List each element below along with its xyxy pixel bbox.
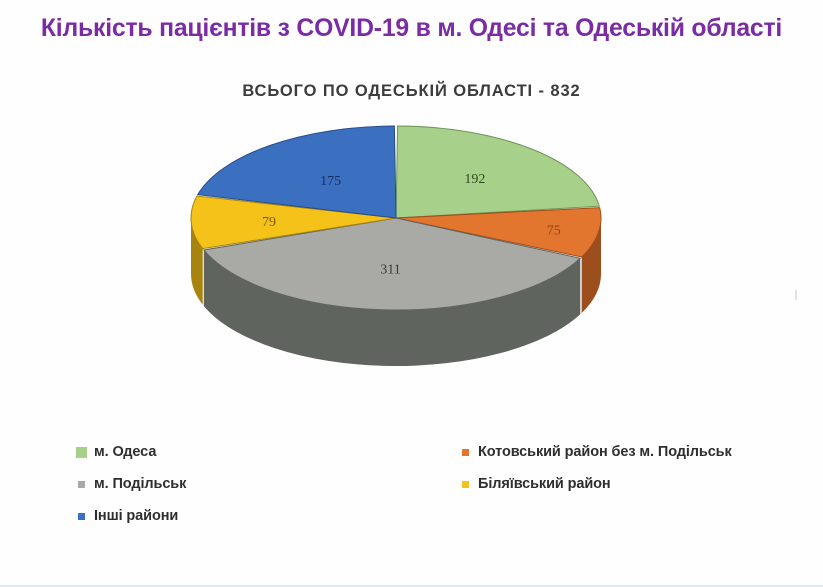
legend-item-label: Біляївський район <box>478 476 611 492</box>
legend-item-label: м. Одеса <box>94 444 156 460</box>
pie-slice-value-label: 175 <box>320 174 341 189</box>
legend-item-kotovsky-district[interactable]: Котовський район без м. Подільськ <box>460 444 732 460</box>
legend-item-odesa[interactable]: м. Одеса <box>76 444 156 460</box>
chart-legend: м. Одеса м. Подільськ Інші райони Котовс… <box>76 440 796 540</box>
scan-artifact-mark <box>795 290 797 300</box>
legend-item-label: Котовський район без м. Подільськ <box>478 444 732 460</box>
pie-slices <box>191 126 601 310</box>
pie-slice-value-label: 311 <box>380 263 400 278</box>
legend-item-label: Інші райони <box>94 508 178 524</box>
page-title: Кількість пацієнтів з COVID-19 в м. Одес… <box>4 14 819 43</box>
legend-swatch-icon <box>462 449 469 456</box>
pie-slice-value-label: 192 <box>464 172 485 187</box>
legend-item-bilyaivsky-district[interactable]: Біляївський район <box>460 476 611 492</box>
pie-slice[interactable] <box>396 126 599 218</box>
pie-chart: 1927531179175 <box>0 110 823 410</box>
legend-swatch-icon <box>76 447 87 458</box>
legend-swatch-icon <box>78 481 85 488</box>
pie-slice-value-label: 79 <box>262 215 276 230</box>
legend-item-podilsk[interactable]: м. Подільськ <box>76 476 186 492</box>
pie-slice-value-label: 75 <box>547 224 561 239</box>
chart-subtitle-total: ВСЬОГО ПО ОДЕСЬКІЙ ОБЛАСТІ - 832 <box>0 82 823 101</box>
legend-item-other-districts[interactable]: Інші райони <box>76 508 178 524</box>
pie-chart-svg: 1927531179175 <box>0 110 823 410</box>
legend-item-label: м. Подільськ <box>94 476 186 492</box>
legend-swatch-icon <box>462 481 469 488</box>
legend-swatch-icon <box>78 513 85 520</box>
